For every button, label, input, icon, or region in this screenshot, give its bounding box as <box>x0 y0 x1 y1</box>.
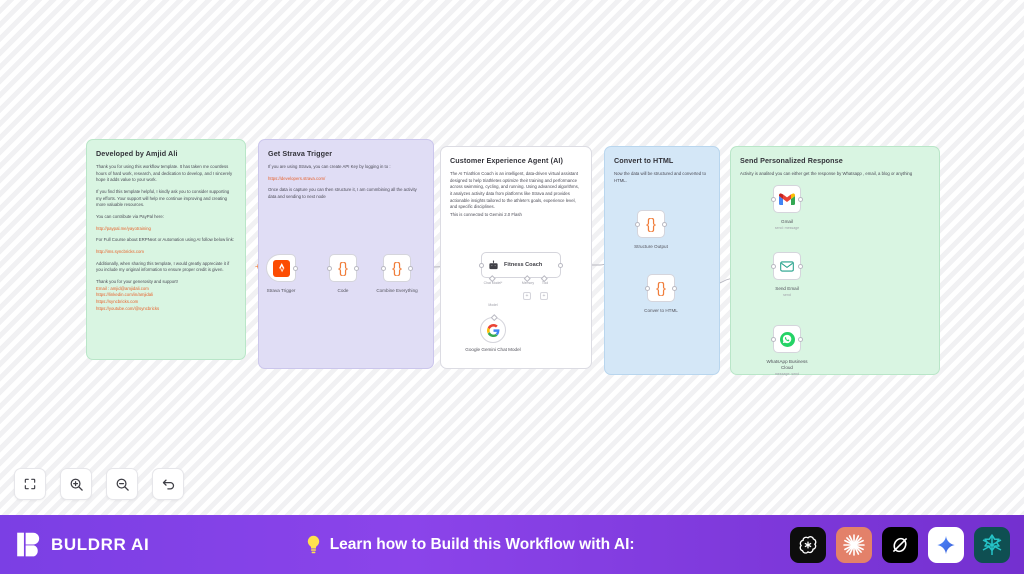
node-label-combine-everything: Combine Everything <box>352 288 442 294</box>
gemini-icon[interactable] <box>928 527 964 563</box>
input-port[interactable] <box>645 286 650 291</box>
note-body: If you are using Strava, you can create … <box>268 164 424 201</box>
sticky-note-send-personalized-response[interactable]: Send Personalized Response Activity is a… <box>730 146 940 375</box>
node-label-send-email: Send Email <box>742 286 832 292</box>
node-label-gmail: Gmail <box>742 219 832 225</box>
node-label-convert-to-html: Conver to HTML <box>616 308 706 314</box>
robot-icon <box>488 260 499 271</box>
note-title: Send Personalized Response <box>740 156 930 165</box>
paypal-link[interactable]: http://paypal.me/yayotraining <box>96 226 236 233</box>
node-whatsapp-business-cloud[interactable] <box>773 325 801 353</box>
node-send-email[interactable] <box>773 252 801 280</box>
grok-icon[interactable] <box>882 527 918 563</box>
port-label-tool: Tool <box>525 281 565 285</box>
code-braces-icon: {} <box>646 217 656 232</box>
node-code[interactable]: {} <box>329 254 357 282</box>
note-paragraph: Now the data will be structured and conv… <box>614 171 710 184</box>
input-port[interactable] <box>381 266 386 271</box>
sticky-note-developed-by[interactable]: Developed by Amjid Ali Thank you for usi… <box>86 139 246 360</box>
node-gmail[interactable] <box>773 185 801 213</box>
node-label-google-gemini-chat-model: Google Gemini Chat Model <box>462 347 524 353</box>
node-sublabel-whatsapp: message: send <box>742 372 832 376</box>
port-label-chat-model: Chat Model* <box>473 281 513 285</box>
contact-email[interactable]: Email : amjid@amjidali.com <box>96 286 236 293</box>
node-sublabel-gmail: send: message <box>742 226 832 230</box>
note-body: Activity is analited you can either get … <box>740 171 930 178</box>
port-sublabel-model: Model <box>473 303 513 307</box>
node-google-gemini-chat-model[interactable] <box>480 317 506 343</box>
course-link[interactable]: http://ims.syncbricks.com <box>96 249 236 256</box>
zoom-in-icon <box>69 477 84 492</box>
youtube-link[interactable]: https://youtube.com/@syncbricks <box>96 306 236 313</box>
note-body: Thank you for using this workflow templa… <box>96 164 236 312</box>
note-title: Developed by Amjid Ali <box>96 149 236 158</box>
note-paragraph: For Full Course about ERPNext or Automat… <box>96 237 236 244</box>
banner-cta-group: Learn how to Build this Workflow with AI… <box>149 535 790 555</box>
linkedin-link[interactable]: https://linkedin.com/in/amjidali <box>96 292 236 299</box>
node-label-structure-output: Structure Output <box>606 244 696 250</box>
output-port[interactable] <box>798 264 803 269</box>
banner-cta-text: Learn how to Build this Workflow with AI… <box>330 536 635 554</box>
note-paragraph: The AI Triathlon Coach is an intelligent… <box>450 171 582 211</box>
input-port[interactable] <box>327 266 332 271</box>
input-port[interactable] <box>771 337 776 342</box>
note-paragraph: Activity is analited you can either get … <box>740 171 930 178</box>
note-paragraph: Thank you for your generosity and suppor… <box>96 279 236 286</box>
note-title: Convert to HTML <box>614 156 710 165</box>
note-paragraph: Additionally, when sharing this template… <box>96 261 236 274</box>
output-port[interactable] <box>354 266 359 271</box>
output-port[interactable] <box>558 263 563 268</box>
zoom-out-icon <box>115 477 130 492</box>
canvas-toolbar[interactable] <box>14 468 184 500</box>
sticky-note-convert-to-html[interactable]: Convert to HTML Now the data will be str… <box>604 146 720 375</box>
note-title: Get Strava Trigger <box>268 149 424 158</box>
input-port[interactable] <box>479 263 484 268</box>
memory-add-button[interactable]: + <box>523 292 531 300</box>
zoom-out-button[interactable] <box>106 468 138 500</box>
strava-icon <box>273 260 290 277</box>
output-port[interactable] <box>798 337 803 342</box>
note-paragraph: If you are using Strava, you can create … <box>268 164 424 171</box>
envelope-icon <box>780 261 794 272</box>
tool-add-button[interactable]: + <box>540 292 548 300</box>
note-paragraph: If you find this template helpful, I kin… <box>96 189 236 209</box>
node-label-whatsapp-business-cloud: WhatsApp Business Cloud <box>760 359 814 371</box>
deepseek-icon[interactable] <box>974 527 1010 563</box>
fit-screen-icon <box>23 477 37 491</box>
strava-developers-link[interactable]: https://developers.strava.com/ <box>268 176 424 183</box>
fit-to-view-button[interactable] <box>14 468 46 500</box>
note-paragraph: This is connected to Gemini 2.0 Flash <box>450 212 582 219</box>
brand-name: BULDRR AI <box>51 535 149 555</box>
node-fitness-coach[interactable]: Fitness Coach <box>481 252 561 278</box>
code-braces-icon: {} <box>392 261 402 276</box>
gmail-icon <box>779 193 795 205</box>
claude-icon[interactable] <box>836 527 872 563</box>
google-icon <box>487 324 500 337</box>
node-convert-to-html[interactable]: {} <box>647 274 675 302</box>
code-braces-icon: {} <box>656 281 666 296</box>
ai-tool-icons <box>790 527 1024 563</box>
node-sublabel-send-email: send <box>742 293 832 297</box>
whatsapp-icon <box>780 332 795 347</box>
note-body: The AI Triathlon Coach is an intelligent… <box>450 171 582 219</box>
note-title: Customer Experience Agent (AI) <box>450 156 582 165</box>
buldrr-logo-icon <box>16 531 42 558</box>
input-port[interactable] <box>771 197 776 202</box>
input-port[interactable] <box>635 222 640 227</box>
note-paragraph: You can contribute via PayPal here: <box>96 214 236 221</box>
lightbulb-icon <box>305 535 322 555</box>
node-combine-everything[interactable]: {} <box>383 254 411 282</box>
code-braces-icon: {} <box>338 261 348 276</box>
output-port[interactable] <box>293 266 298 271</box>
undo-icon <box>161 477 176 492</box>
note-paragraph: Once data is capture you can then struct… <box>268 187 424 200</box>
note-paragraph: Thank you for using this workflow templa… <box>96 164 236 184</box>
bottom-banner: BULDRR AI Learn how to Build this Workfl… <box>0 515 1024 574</box>
reset-view-button[interactable] <box>152 468 184 500</box>
output-port[interactable] <box>798 197 803 202</box>
output-port[interactable] <box>408 266 413 271</box>
input-port[interactable] <box>771 264 776 269</box>
brand[interactable]: BULDRR AI <box>0 531 149 558</box>
zoom-in-button[interactable] <box>60 468 92 500</box>
syncbricks-link[interactable]: https://syncbricks.com <box>96 299 236 306</box>
output-port[interactable] <box>672 286 677 291</box>
note-body: Now the data will be structured and conv… <box>614 171 710 184</box>
output-port[interactable] <box>662 222 667 227</box>
node-structure-output[interactable]: {} <box>637 210 665 238</box>
node-strava-trigger[interactable] <box>266 254 296 282</box>
openai-icon[interactable] <box>790 527 826 563</box>
node-label-fitness-coach: Fitness Coach <box>504 262 542 268</box>
